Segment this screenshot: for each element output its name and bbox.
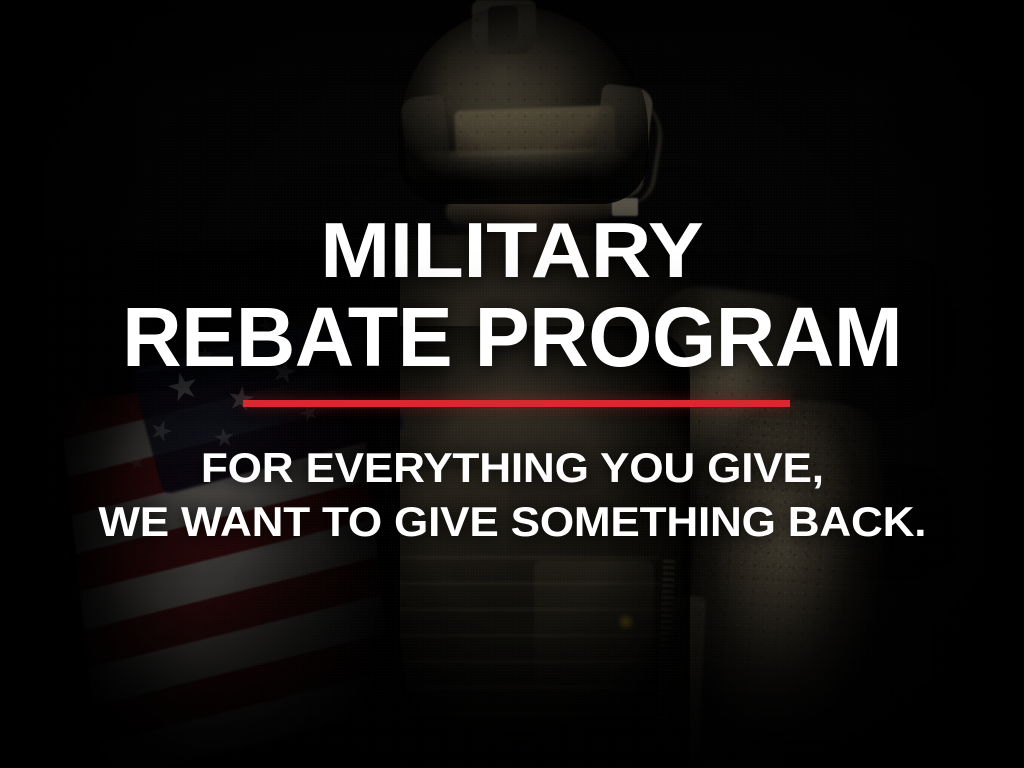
digital-camouflage-sleeve-icon <box>676 393 918 768</box>
military-rebate-poster: MILITARY REBATE PROGRAM FOR EVERYTHING Y… <box>0 0 1024 768</box>
background-photograph <box>0 0 1024 768</box>
flag-dimming-overlay <box>0 240 400 768</box>
